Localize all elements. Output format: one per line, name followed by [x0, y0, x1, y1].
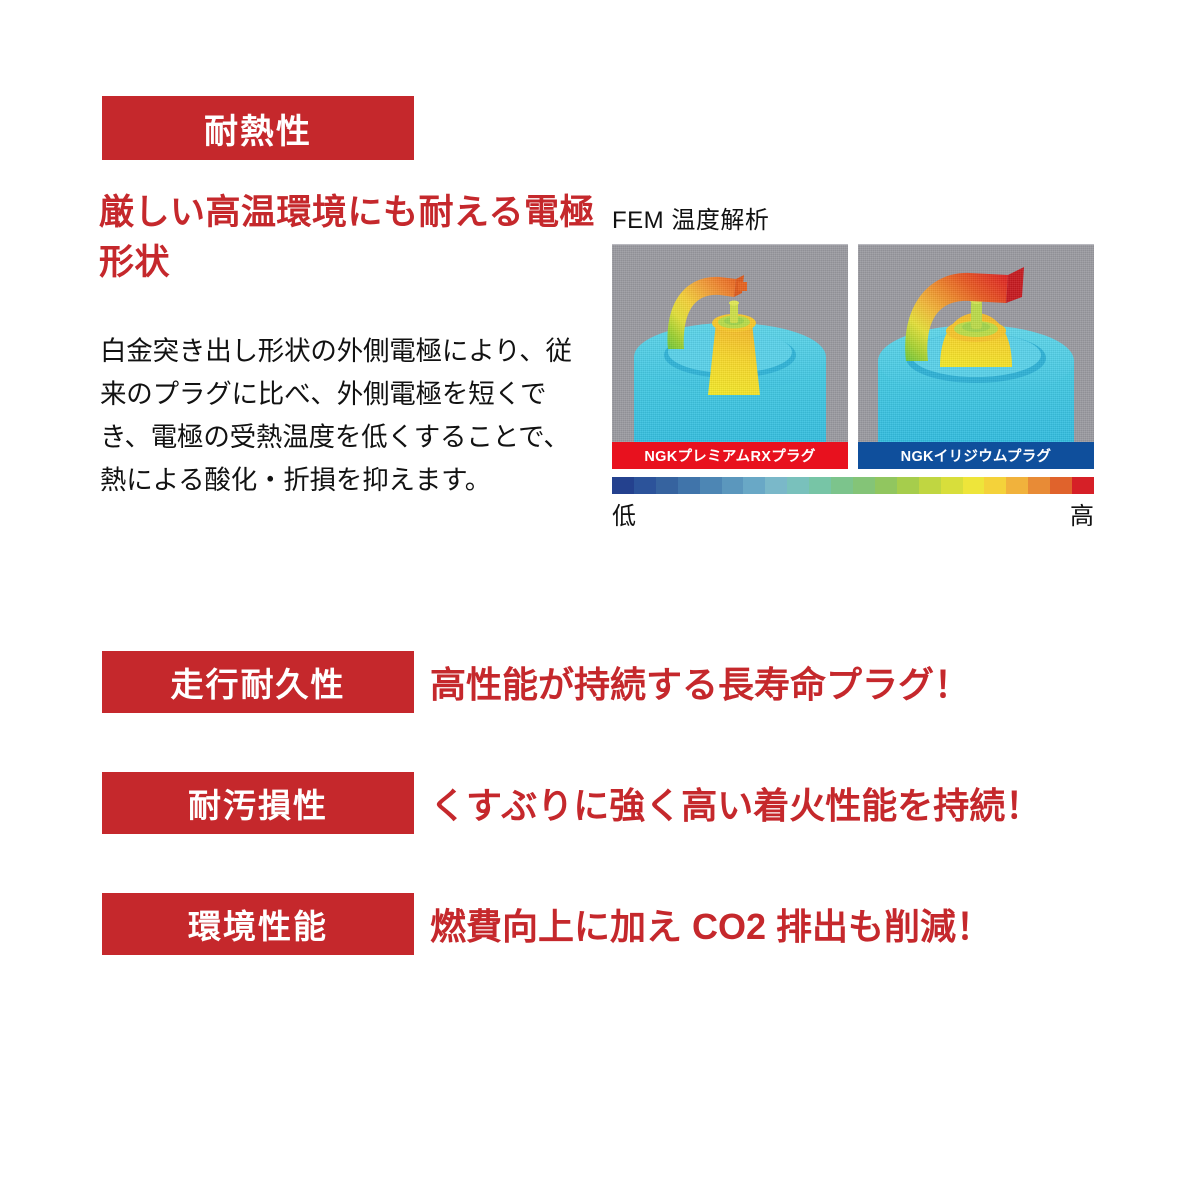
colorbar-band-15: [941, 477, 963, 494]
fem-panels: NGKプレミアムRXプラグ: [612, 244, 1094, 469]
colorbar-band-11: [853, 477, 875, 494]
fem-image-texture: [858, 245, 1094, 442]
colorbar-band-4: [700, 477, 722, 494]
fem-image-texture: [612, 245, 848, 442]
badge-environmental-performance: 環境性能: [102, 893, 414, 955]
badge-fouling-resistance: 耐汚損性: [102, 772, 414, 834]
colorbar-band-20: [1050, 477, 1072, 494]
feature-row-durability: 走行耐久性 高性能が持続する長寿命プラグ！: [0, 651, 1200, 713]
temperature-colorbar: 低 高: [612, 477, 1094, 531]
feature-text-driving-durability: 高性能が持続する長寿命プラグ！: [430, 651, 970, 713]
feature-text-environmental-performance: 燃費向上に加え CO2 排出も削減！: [430, 893, 992, 955]
fem-panel-iridium: NGKイリジウムプラグ: [858, 244, 1094, 469]
plug-label-iridium: NGKイリジウムプラグ: [858, 442, 1094, 469]
fem-analysis-block: FEM 温度解析: [612, 200, 1094, 531]
colorbar-band-10: [831, 477, 853, 494]
fem-caption: FEM 温度解析: [612, 200, 1094, 235]
page-root: 耐熱性 厳しい高温環境にも耐える電極形状 白金突き出し形状の外側電極により、従来…: [0, 0, 1200, 1200]
colorbar-band-19: [1028, 477, 1050, 494]
colorbar-band-9: [809, 477, 831, 494]
body-text-heat-resistance: 白金突き出し形状の外側電極により、従来のプラグに比べ、外側電極を短くでき、電極の…: [100, 330, 590, 502]
feature-text-fouling-resistance: くすぶりに強く高い着火性能を持続！: [430, 772, 1041, 834]
colorbar-labels: 低 高: [612, 496, 1094, 531]
colorbar-band-5: [722, 477, 744, 494]
fem-image-iridium: [858, 244, 1094, 442]
colorbar-band-17: [984, 477, 1006, 494]
feature-row-environment: 環境性能 燃費向上に加え CO2 排出も削減！: [0, 893, 1200, 955]
feature-row-fouling: 耐汚損性 くすぶりに強く高い着火性能を持続！: [0, 772, 1200, 834]
colorbar-band-0: [612, 477, 634, 494]
colorbar-band-14: [919, 477, 941, 494]
colorbar-band-12: [875, 477, 897, 494]
colorbar-band-8: [787, 477, 809, 494]
colorbar-band-7: [765, 477, 787, 494]
colorbar-band-13: [897, 477, 919, 494]
fem-panel-premium-rx: NGKプレミアムRXプラグ: [612, 244, 848, 469]
colorbar-band-3: [678, 477, 700, 494]
badge-driving-durability: 走行耐久性: [102, 651, 414, 713]
colorbar-band-2: [656, 477, 678, 494]
colorbar-label-high: 高: [1070, 496, 1094, 531]
colorbar-band-16: [963, 477, 985, 494]
colorbar-band-18: [1006, 477, 1028, 494]
colorbar-band-6: [743, 477, 765, 494]
badge-heat-resistance: 耐熱性: [102, 96, 414, 160]
colorbar-gradient: [612, 477, 1094, 494]
colorbar-label-low: 低: [612, 496, 636, 531]
colorbar-band-21: [1072, 477, 1094, 494]
colorbar-band-1: [634, 477, 656, 494]
plug-label-premium-rx: NGKプレミアムRXプラグ: [612, 442, 848, 469]
heading-heat-resistance: 厳しい高温環境にも耐える電極形状: [99, 188, 599, 287]
fem-image-premium-rx: [612, 244, 848, 442]
